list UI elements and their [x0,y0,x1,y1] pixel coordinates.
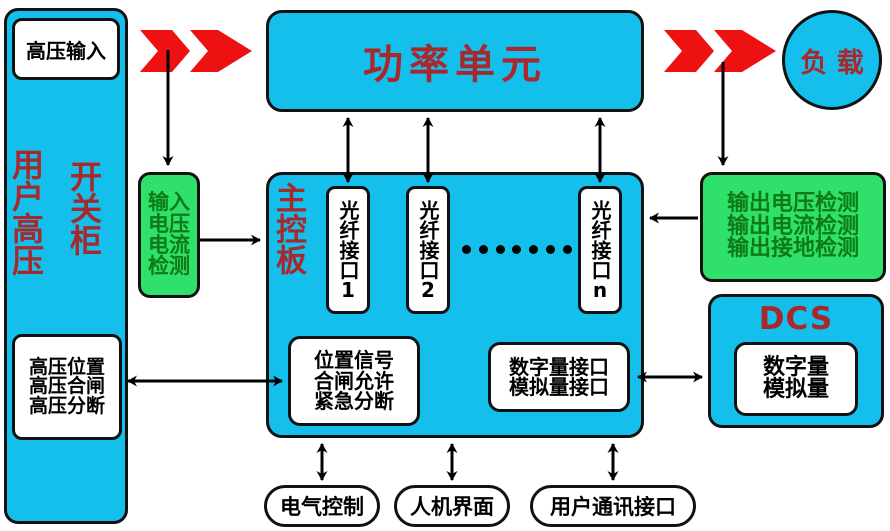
input-detect-line-3: 电流 [148,235,190,256]
power-unit-box[interactable]: 功率单元 [266,10,644,112]
fiber-ports-ellipsis [462,242,572,256]
dcs-digital-label: 数字量 [763,357,829,379]
dcs-io-box[interactable]: 数字量 模拟量 [734,342,858,416]
cabinet-label-col2-text: 开关柜 [68,160,100,256]
io-interface-box[interactable]: 数字量接口 模拟量接口 [488,342,630,412]
hmi-label: 人机界面 [410,491,494,521]
input-detect-line-2: 电压 [148,214,190,235]
analog-io-label: 模拟量接口 [509,377,609,397]
dcs-analog-label: 模拟量 [763,379,829,401]
user-comm-label: 用户通讯接口 [550,491,676,521]
power-unit-label: 功率单元 [363,32,547,90]
output-current-detect-label: 输出电流检测 [727,216,859,238]
cabinet-label-col1: 用户高压 [10,148,42,280]
diagram-canvas: 高压输入 用户高压 开关柜 高压位置 高压合闸 高压分断 功率单元 负 载 输入… [0,0,890,531]
electrical-control-label: 电气控制 [280,491,364,521]
cabinet-label-col2: 开关柜 [68,160,100,260]
fiber-port-2-index: 2 [421,280,435,300]
digital-io-label: 数字量接口 [509,357,609,377]
position-signal-line-2: 合闸允许 [314,371,394,391]
fiber-port-n[interactable]: 光纤接口 n [578,186,622,314]
user-comm-node[interactable]: 用户通讯接口 [530,485,696,527]
fiber-port-2[interactable]: 光纤接口 2 [406,186,450,314]
hv-input-box[interactable]: 高压输入 [12,18,120,80]
output-detect-box[interactable]: 输出电压检测 输出电流检测 输出接地检测 [700,172,886,282]
hv-input-label: 高压输入 [26,35,106,64]
red-arrow-input [140,30,252,72]
hv-status-signals-box[interactable]: 高压位置 高压合闸 高压分断 [12,334,122,440]
position-signal-box[interactable]: 位置信号 合闸允许 紧急分断 [288,336,420,426]
cabinet-label-col1-text: 用户高压 [10,148,42,276]
main-board-label: 主控板 [272,182,303,279]
input-voltage-current-detect-box[interactable]: 输入 电压 电流 检测 [138,172,200,298]
load-circle[interactable]: 负 载 [782,10,882,110]
input-detect-line-1: 输入 [148,192,190,213]
dcs-label: DCS [759,301,833,337]
fiber-port-n-name: 光纤接口 [590,200,610,280]
position-signal-line-1: 位置信号 [314,350,394,370]
fiber-port-1[interactable]: 光纤接口 1 [326,186,370,314]
load-label: 负 载 [800,41,863,80]
hv-break-label: 高压分断 [29,397,105,416]
electrical-control-node[interactable]: 电气控制 [264,485,380,527]
hmi-node[interactable]: 人机界面 [394,485,510,527]
fiber-port-1-name: 光纤接口 [338,200,358,280]
position-signal-line-3: 紧急分断 [314,391,394,411]
input-detect-line-4: 检测 [148,256,190,277]
red-arrow-output [664,30,776,72]
output-ground-detect-label: 输出接地检测 [727,238,859,260]
fiber-port-2-name: 光纤接口 [418,200,438,280]
hv-close-label: 高压合闸 [29,377,105,396]
fiber-port-n-index: n [593,280,607,300]
fiber-port-1-index: 1 [341,280,355,300]
main-board-label-text: 主控板 [272,182,303,275]
output-voltage-detect-label: 输出电压检测 [727,193,859,215]
